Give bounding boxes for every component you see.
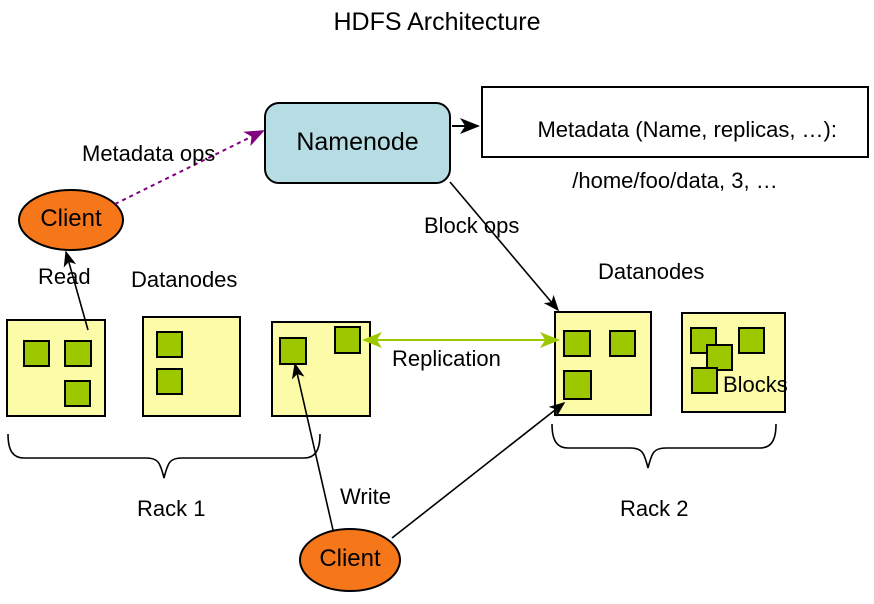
label-blocks: Blocks	[723, 372, 788, 397]
block	[65, 381, 90, 406]
client-bottom-label: Client	[301, 545, 399, 573]
diagram-canvas	[0, 0, 874, 604]
label-replication: Replication	[392, 346, 501, 371]
label-read: Read	[38, 264, 91, 289]
metadata-box-text: Metadata (Name, replicas, …): /home/foo/…	[484, 92, 866, 244]
block	[610, 331, 635, 356]
block	[24, 341, 49, 366]
block	[564, 371, 591, 399]
datanode-3[interactable]	[272, 322, 370, 416]
datanode-4[interactable]	[555, 312, 651, 415]
datanode-1[interactable]	[7, 320, 105, 416]
hdfs-architecture-diagram: HDFS Architecture Namenode Metadata (Nam…	[0, 0, 874, 604]
datanode-2[interactable]	[143, 317, 240, 416]
label-metadata-ops: Metadata ops	[82, 141, 215, 166]
metadata-line-1: Metadata (Name, replicas, …):	[537, 117, 837, 142]
block	[65, 341, 91, 366]
rack-1-brace	[8, 434, 320, 478]
block	[739, 328, 764, 353]
page-title: HDFS Architecture	[0, 8, 874, 37]
block	[335, 327, 360, 353]
block	[280, 338, 306, 364]
block	[157, 332, 182, 357]
label-block-ops: Block ops	[424, 213, 519, 238]
block	[707, 345, 732, 370]
namenode-label: Namenode	[265, 128, 450, 157]
block	[692, 368, 717, 393]
label-rack-2: Rack 2	[620, 496, 688, 521]
metadata-line-2: /home/foo/data, 3, …	[484, 168, 866, 193]
label-datanodes-right: Datanodes	[598, 259, 704, 284]
label-datanodes-left: Datanodes	[131, 267, 237, 292]
label-rack-1: Rack 1	[137, 496, 205, 521]
rack-2-brace	[552, 424, 776, 468]
label-write: Write	[340, 484, 391, 509]
block	[157, 369, 182, 394]
client-top-label: Client	[22, 205, 120, 233]
block	[564, 331, 590, 356]
connector-write-rack2	[392, 403, 564, 538]
